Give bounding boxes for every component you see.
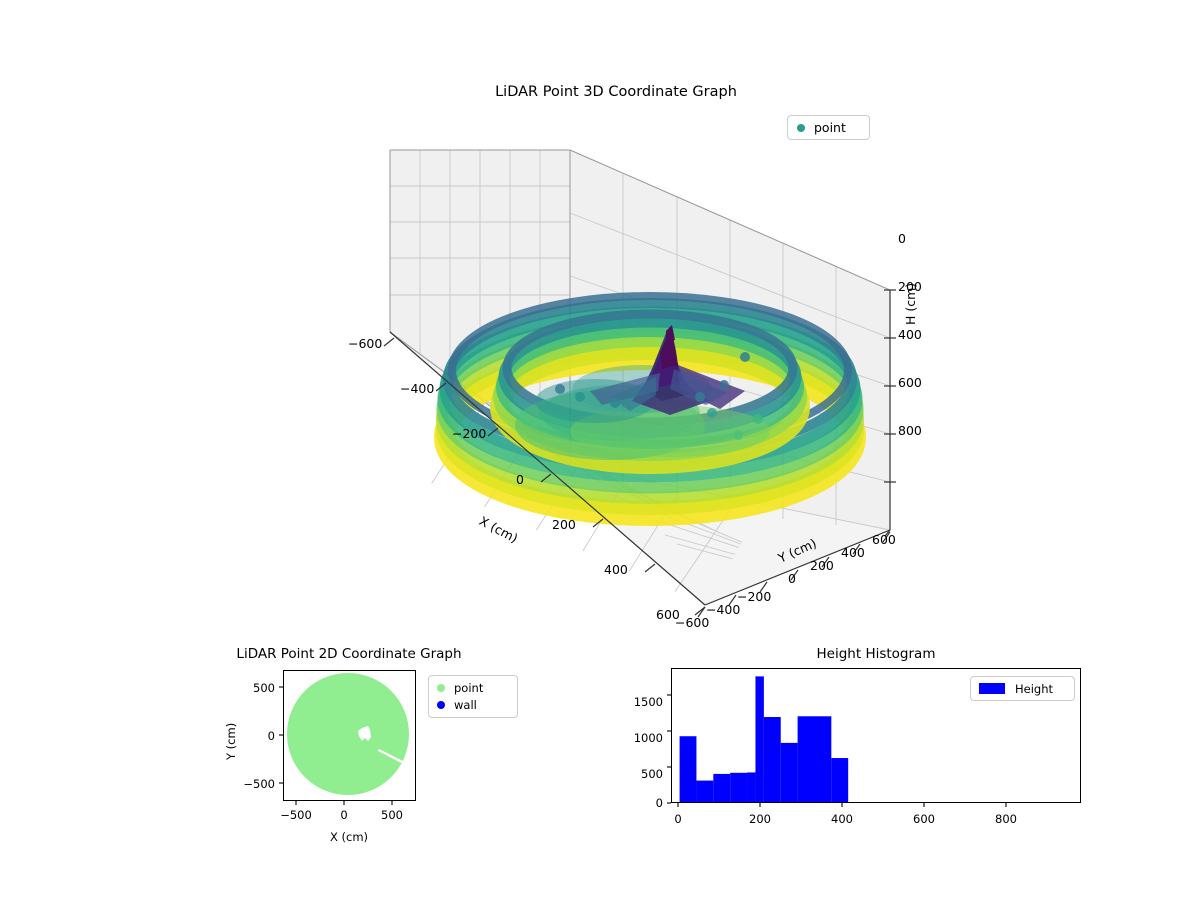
histogram-bar (798, 716, 832, 802)
scatter2d-xtick--500: −500 (280, 808, 312, 822)
x-tick--400: −400 (400, 381, 434, 396)
x-tick--600: −600 (348, 336, 382, 351)
histogram-bar (696, 781, 713, 802)
scatter2d-xtick-0: 0 (340, 808, 347, 822)
histogram-xtick-800: 800 (995, 812, 1017, 826)
h-tick-800: 800 (898, 423, 922, 438)
scatter2d-xlabel: X (cm) (330, 830, 368, 844)
y-tick--200: −200 (737, 589, 771, 604)
y-tick-600: 600 (872, 532, 896, 547)
point-cloud (442, 296, 858, 515)
scatter2d-ytick-500: 500 (253, 681, 275, 695)
scatter2d-legend[interactable]: point wall (428, 675, 518, 718)
h-axis-label: H (cm) (903, 283, 918, 325)
scatter2d-canvas (284, 671, 415, 800)
histogram-bar (764, 717, 781, 802)
histogram-bar (831, 758, 848, 802)
y-tick--400: −400 (706, 602, 740, 617)
legend-label-wall: wall (454, 698, 477, 712)
scatter2d-ylabel: Y (cm) (224, 723, 238, 760)
scatter3d-axes[interactable]: 0 200 400 600 800 H (cm) −600 −400 −200 … (330, 110, 950, 640)
scatter2d-xtick-500: 500 (381, 808, 403, 822)
histogram-ytick-1000: 1000 (634, 731, 663, 745)
legend-marker-point-icon (437, 684, 445, 692)
x-tick-200: 200 (552, 517, 576, 532)
y-tick-200: 200 (810, 558, 834, 573)
x-tick-400: 400 (604, 562, 628, 577)
h-tick-0: 0 (898, 231, 906, 246)
legend-row-point[interactable]: point (437, 681, 509, 695)
x-tick--200: −200 (452, 426, 486, 441)
scatter3d-canvas (330, 110, 950, 640)
histogram-ytick-0: 0 (656, 796, 663, 810)
scatter2d-ytick-0: 0 (268, 729, 275, 743)
histogram-bar (680, 736, 697, 802)
legend-label-point: point (454, 681, 483, 695)
legend-swatch-height-icon (979, 683, 1005, 694)
y-tick-0: 0 (788, 571, 796, 586)
histogram-bars (680, 676, 849, 802)
h-tick-600: 600 (898, 375, 922, 390)
legend-label-height: Height (1015, 682, 1053, 696)
scatter2d-ytick--500: −500 (243, 777, 275, 791)
histogram-bar (730, 773, 747, 802)
histogram-xtick-0: 0 (674, 812, 681, 826)
scatter2d-title: LiDAR Point 2D Coordinate Graph (236, 646, 461, 662)
h-tick-400: 400 (898, 327, 922, 342)
scatter3d-title: LiDAR Point 3D Coordinate Graph (495, 84, 737, 100)
histogram-title: Height Histogram (817, 646, 936, 662)
y-tick--600: −600 (675, 615, 709, 630)
legend-marker-wall-icon (437, 701, 445, 709)
histogram-xtick-400: 400 (831, 812, 853, 826)
y-tick-400: 400 (841, 545, 865, 560)
histogram-ytick-500: 500 (641, 767, 663, 781)
histogram-bar (781, 743, 798, 802)
histogram-bar (747, 772, 755, 802)
histogram-xtick-600: 600 (913, 812, 935, 826)
x-tick-0: 0 (516, 472, 524, 487)
histogram-ytick-1500: 1500 (634, 695, 663, 709)
histogram-xtick-200: 200 (749, 812, 771, 826)
scatter2d-axes[interactable] (283, 670, 416, 801)
point-disc (287, 673, 409, 795)
histogram-bar (713, 774, 730, 802)
figure-canvas: LiDAR Point 3D Coordinate Graph point (0, 0, 1200, 900)
histogram-legend[interactable]: Height (970, 676, 1075, 701)
legend-row-wall[interactable]: wall (437, 698, 509, 712)
histogram-bar (755, 676, 763, 802)
